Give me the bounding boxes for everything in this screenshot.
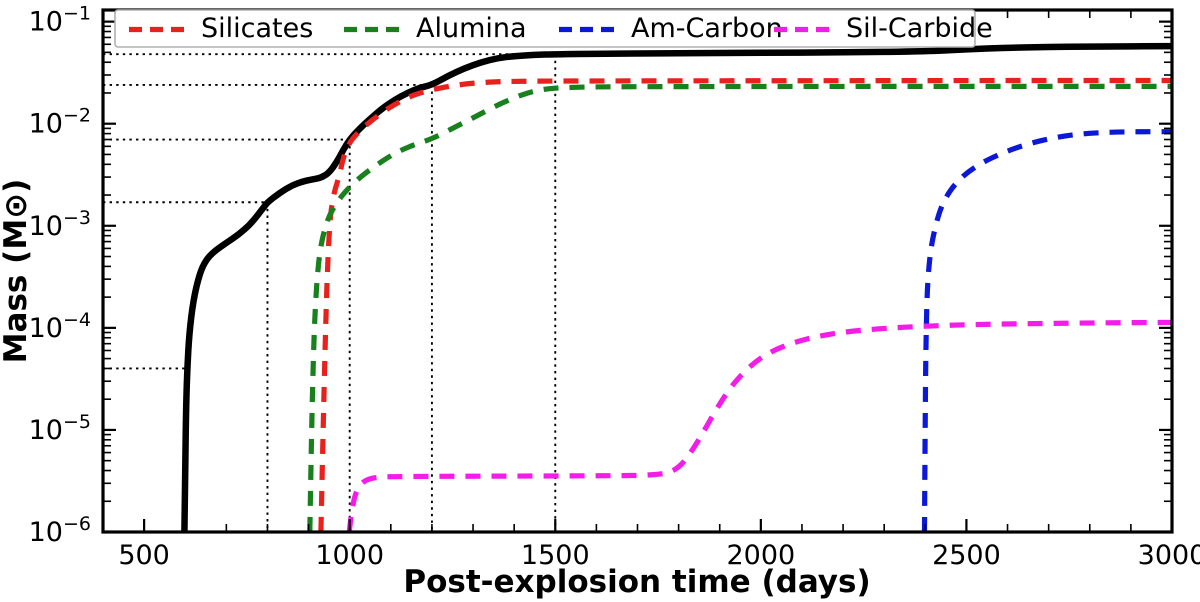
legend-label-silicates: Silicates xyxy=(201,13,313,44)
y-tick-label: 10−4 xyxy=(29,309,91,344)
x-tick-label: 1000 xyxy=(315,540,384,571)
x-tick-label: 3000 xyxy=(1138,540,1200,571)
legend-label-alumina: Alumina xyxy=(416,13,527,44)
y-axis-tick-labels: 10−610−510−410−310−210−1 xyxy=(29,3,91,548)
legend-label-am-carbon: Am-Carbon xyxy=(631,13,783,44)
figure-container: 50010001500200025003000 10−610−510−410−3… xyxy=(0,0,1200,602)
x-tick-label: 500 xyxy=(118,540,170,571)
legend: SilicatesAluminaAm-CarbonSil-Carbide xyxy=(115,10,993,47)
legend-label-sil-carbide: Sil-Carbide xyxy=(846,13,993,44)
x-axis-title: Post-explosion time (days) xyxy=(403,564,870,600)
x-tick-label: 2500 xyxy=(932,540,1001,571)
y-tick-label: 10−5 xyxy=(29,411,91,446)
y-axis-title-suffix: ) xyxy=(0,179,34,193)
y-axis-title-prefix: Mass (M xyxy=(0,219,34,363)
y-tick-label: 10−2 xyxy=(29,105,91,140)
mass-vs-time-chart: 50010001500200025003000 10−610−510−410−3… xyxy=(0,0,1200,602)
y-tick-label: 10−1 xyxy=(29,3,91,38)
sun-symbol-icon: ⊙ xyxy=(0,193,34,219)
y-tick-label: 10−6 xyxy=(29,513,91,548)
y-axis-title: Mass (M⊙) xyxy=(0,179,34,364)
y-tick-label: 10−3 xyxy=(29,207,91,242)
svg-text:Mass (M⊙): Mass (M⊙) xyxy=(0,179,34,364)
